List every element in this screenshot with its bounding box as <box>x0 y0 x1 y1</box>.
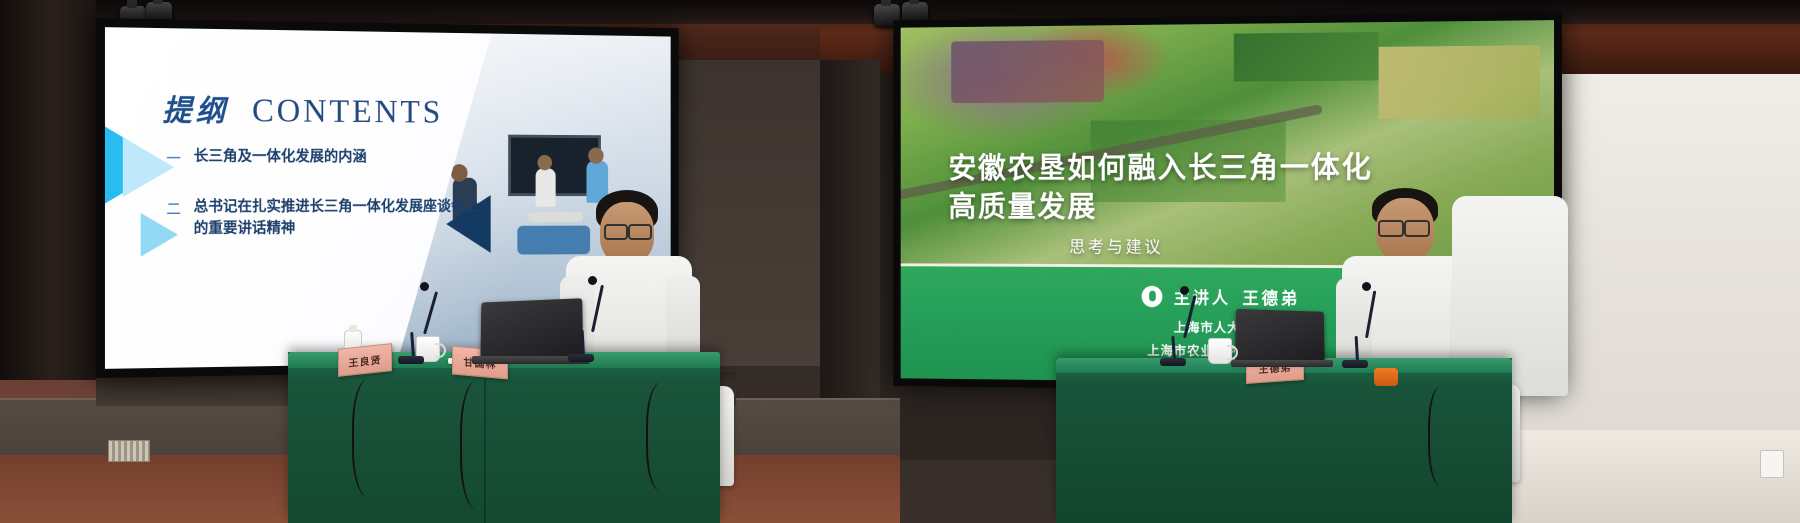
bullet-text: 长三角及一体化发展的内涵 <box>194 146 367 168</box>
left-slide-title-en: CONTENTS <box>252 93 443 132</box>
laptop-base <box>1231 360 1333 367</box>
wall-outlet <box>1760 450 1784 478</box>
microphone-head <box>420 282 429 291</box>
glasses <box>1404 220 1430 237</box>
laptop-lid <box>480 298 583 358</box>
cable <box>1428 386 1460 486</box>
cable <box>646 382 684 492</box>
left-wall-column <box>0 0 96 400</box>
microphone-icon <box>1142 285 1163 307</box>
right-slide-title-line1: 安徽农垦如何融入长三角一体化 <box>948 148 1542 188</box>
glasses <box>604 224 628 240</box>
right-slide-subtitle: 思考与建议 <box>1069 233 1163 258</box>
laptop-lid <box>1235 309 1325 362</box>
list-item: 二 总书记在扎实推进长三角一体化发展座谈会上的重要讲话精神 <box>166 196 480 239</box>
photo-person-head <box>537 155 552 170</box>
left-slide-bullets: 一 长三角及一体化发展的内涵 二 总书记在扎实推进长三角一体化发展座谈会上的重要… <box>166 145 480 267</box>
list-item: 一 长三角及一体化发展的内涵 <box>166 145 480 169</box>
cup <box>1208 338 1232 364</box>
photo-person <box>536 168 556 206</box>
microphone-head <box>588 276 597 285</box>
speaker-name: 王德弟 <box>1242 284 1300 309</box>
glasses <box>1378 220 1404 237</box>
bullet-text: 总书记在扎实推进长三角一体化发展座谈会上的重要讲话精神 <box>194 196 481 239</box>
wall-vent <box>108 440 150 462</box>
left-slide-title: 提纲 CONTENTS <box>162 86 443 132</box>
nameplate-text: 王良贤 <box>349 351 382 369</box>
orange-object <box>1374 368 1398 386</box>
cable <box>460 380 502 510</box>
bullet-number: 二 <box>166 196 182 219</box>
microphone-base <box>398 356 424 364</box>
conference-hall-photo: 提纲 CONTENTS 一 长三角及一体化发展的内涵 二 总书记在扎实推进长三角… <box>0 0 1800 523</box>
field-patch <box>1379 45 1541 120</box>
bullet-number: 一 <box>166 145 182 168</box>
microphone-base <box>568 354 594 362</box>
nameplate: 王良贤 <box>338 343 392 377</box>
microphone-base <box>1160 358 1186 366</box>
microphone-head <box>1180 286 1189 295</box>
microphone-head <box>1362 282 1371 291</box>
cable <box>352 378 394 498</box>
microphone-base <box>1342 360 1368 368</box>
village-patch <box>951 40 1104 103</box>
field-patch <box>1233 32 1378 82</box>
photo-person-head <box>588 148 603 164</box>
left-slide-title-cn: 提纲 <box>162 86 228 130</box>
glasses <box>628 224 652 240</box>
